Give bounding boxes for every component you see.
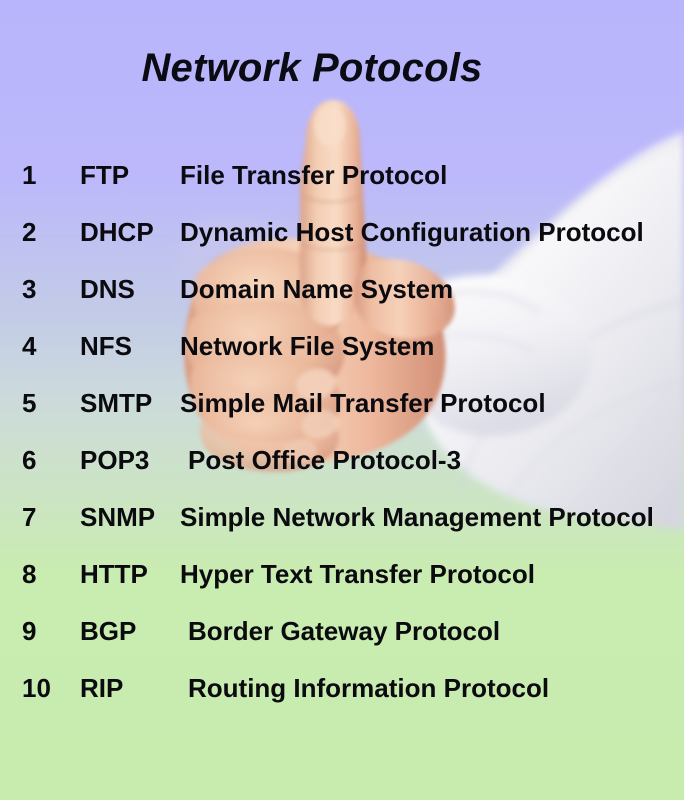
list-item-description: Border Gateway Protocol	[188, 614, 500, 648]
list-item-description: Routing Information Protocol	[188, 671, 549, 705]
list-item-number: 8	[22, 557, 60, 591]
list-item: 7 SNMP Simple Network Management Protoco…	[0, 500, 684, 557]
list-item-number: 7	[22, 500, 60, 534]
list-item-number: 5	[22, 386, 60, 420]
list-item-abbreviation: DNS	[80, 272, 135, 306]
list-item: 3 DNS Domain Name System	[0, 272, 684, 329]
list-item-number: 4	[22, 329, 60, 363]
list-item-number: 10	[22, 671, 60, 705]
list-item: 6 POP3 Post Office Protocol-3	[0, 443, 684, 500]
list-item-description: Simple Mail Transfer Protocol	[180, 386, 546, 420]
protocol-poster: Network Potocols 1 FTP File Transfer Pro…	[0, 0, 684, 800]
list-item: 5 SMTP Simple Mail Transfer Protocol	[0, 386, 684, 443]
protocol-list: 1 FTP File Transfer Protocol 2 DHCP Dyna…	[0, 158, 684, 728]
list-item-abbreviation: BGP	[80, 614, 136, 648]
list-item: 4 NFS Network File System	[0, 329, 684, 386]
list-item: 9 BGP Border Gateway Protocol	[0, 614, 684, 671]
list-item-number: 9	[22, 614, 60, 648]
list-item-number: 6	[22, 443, 60, 477]
list-item-description: Network File System	[180, 329, 434, 363]
list-item-abbreviation: POP3	[80, 443, 149, 477]
page-title: Network Potocols	[0, 46, 684, 91]
list-item-number: 3	[22, 272, 60, 306]
list-item-number: 1	[22, 158, 60, 192]
list-item: 1 FTP File Transfer Protocol	[0, 158, 684, 215]
list-item-abbreviation: HTTP	[80, 557, 148, 591]
list-item: 8 HTTP Hyper Text Transfer Protocol	[0, 557, 684, 614]
list-item-abbreviation: FTP	[80, 158, 129, 192]
list-item-abbreviation: NFS	[80, 329, 132, 363]
list-item-description: Post Office Protocol-3	[188, 443, 461, 477]
list-item-description: Simple Network Management Protocol	[180, 500, 654, 534]
list-item-abbreviation: SMTP	[80, 386, 152, 420]
list-item-description: Dynamic Host Configuration Protocol	[180, 215, 644, 249]
list-item-abbreviation: SNMP	[80, 500, 155, 534]
list-item-number: 2	[22, 215, 60, 249]
list-item-abbreviation: RIP	[80, 671, 123, 705]
list-item-description: File Transfer Protocol	[180, 158, 447, 192]
list-item-description: Domain Name System	[180, 272, 453, 306]
list-item: 2 DHCP Dynamic Host Configuration Protoc…	[0, 215, 684, 272]
list-item-abbreviation: DHCP	[80, 215, 154, 249]
list-item: 10 RIP Routing Information Protocol	[0, 671, 684, 728]
list-item-description: Hyper Text Transfer Protocol	[180, 557, 535, 591]
